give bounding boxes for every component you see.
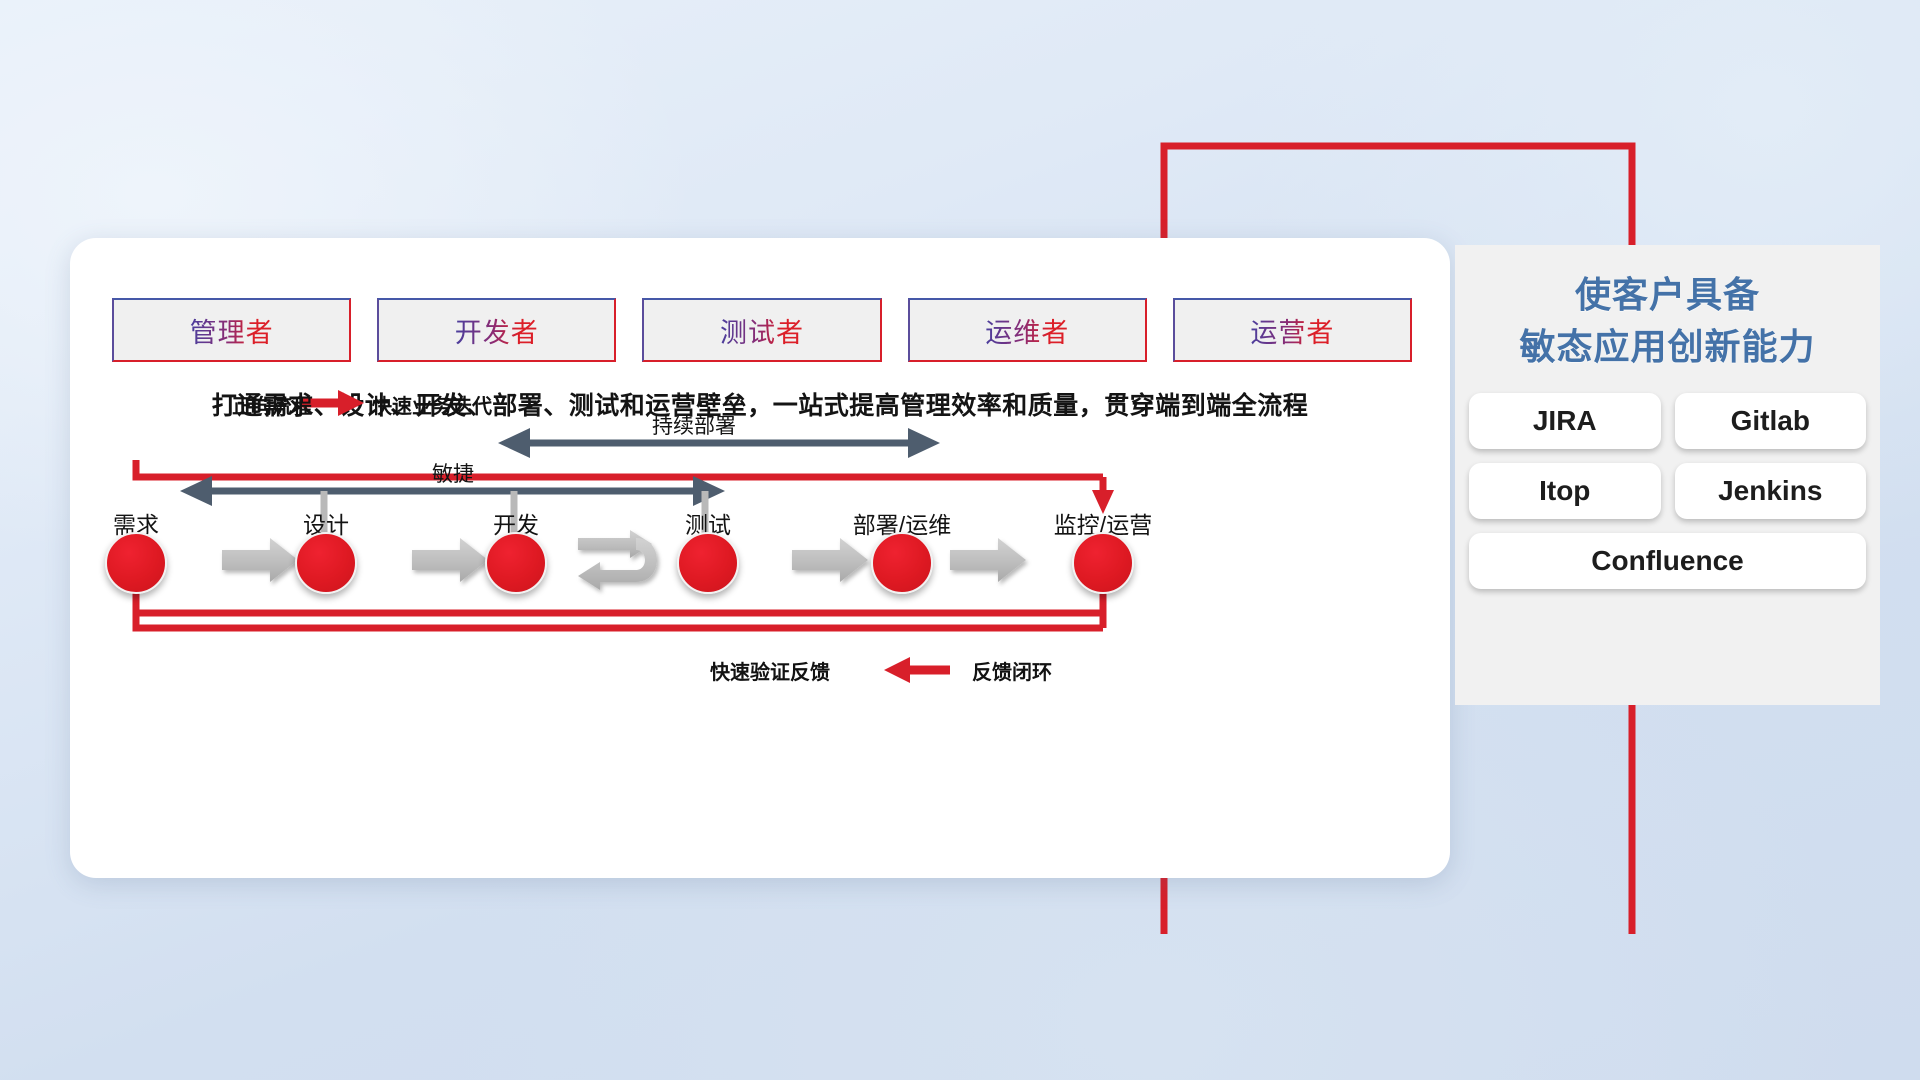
main-diagram-card: 管理者 开发者 测试者 运维者 运营者 打通需求、设计、开发、部署、测试和运营壁… <box>70 238 1450 878</box>
stage-node-monitor-operate[interactable] <box>1072 532 1134 594</box>
slide-canvas: 管理者 开发者 测试者 运维者 运营者 打通需求、设计、开发、部署、测试和运营壁… <box>0 0 1920 1080</box>
forward-flow-target-label: 快速业务迭代 <box>372 390 492 419</box>
tool-list: JIRA Gitlab Itop Jenkins Confluence <box>1469 393 1866 589</box>
flow-vectors <box>70 238 1450 878</box>
tool-item-confluence[interactable]: Confluence <box>1469 533 1866 589</box>
tool-item-jenkins[interactable]: Jenkins <box>1675 463 1867 519</box>
agile-label: 敏捷 <box>432 458 474 488</box>
feedback-source-label: 反馈闭环 <box>972 656 1052 685</box>
continuous-deployment-label: 持续部署 <box>652 410 736 440</box>
tool-item-itop[interactable]: Itop <box>1469 463 1661 519</box>
stage-node-requirement[interactable] <box>105 532 167 594</box>
forward-flow-source-label: 正向流程 <box>232 390 312 419</box>
feedback-result-label: 快速验证反馈 <box>710 656 830 685</box>
stage-node-develop[interactable] <box>485 532 547 594</box>
stage-node-design[interactable] <box>295 532 357 594</box>
tool-item-jira[interactable]: JIRA <box>1469 393 1661 449</box>
feedback-arrow <box>884 657 950 683</box>
panel-title-line2: 敏态应用创新能力 <box>1455 321 1880 373</box>
panel-title: 使客户具备 敏态应用创新能力 <box>1455 269 1880 373</box>
value-proposition-panel: 使客户具备 敏态应用创新能力 JIRA Gitlab Itop Jenkins … <box>1455 245 1880 705</box>
stage-node-test[interactable] <box>677 532 739 594</box>
devops-flow-diagram: 正向流程 快速业务迭代 持续部署 敏捷 快速验证反馈 反馈闭环 需求 设计 开发… <box>70 238 1450 878</box>
tool-item-gitlab[interactable]: Gitlab <box>1675 393 1867 449</box>
stage-node-deploy-ops[interactable] <box>871 532 933 594</box>
panel-title-line1: 使客户具备 <box>1455 269 1880 321</box>
